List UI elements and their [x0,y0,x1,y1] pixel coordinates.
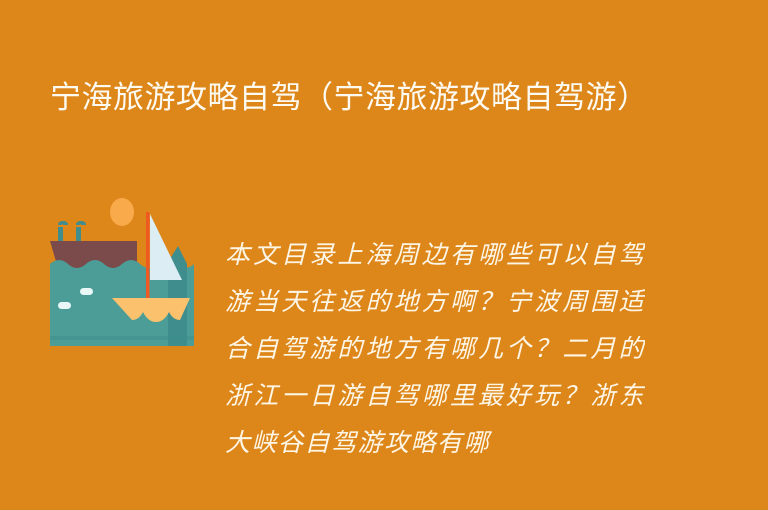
mast-icon [146,212,150,304]
sail-icon [150,214,182,280]
sun-icon [110,198,134,226]
illustration-graphic [50,196,206,346]
sailboat-harbor-illustration [50,196,206,346]
article-body-text: 本文目录上海周边有哪些可以自驾游当天往返的地方啊？宁波周围适合自驾游的地方有哪几… [225,231,645,467]
water-highlight-icon [58,302,71,309]
water-baseline [50,336,194,340]
page-title: 宁海旅游攻略自驾（宁海旅游攻略自驾游） [50,73,650,122]
article-page: 宁海旅游攻略自驾（宁海旅游攻略自驾游） [0,0,768,510]
water-highlight-icon [80,288,93,295]
